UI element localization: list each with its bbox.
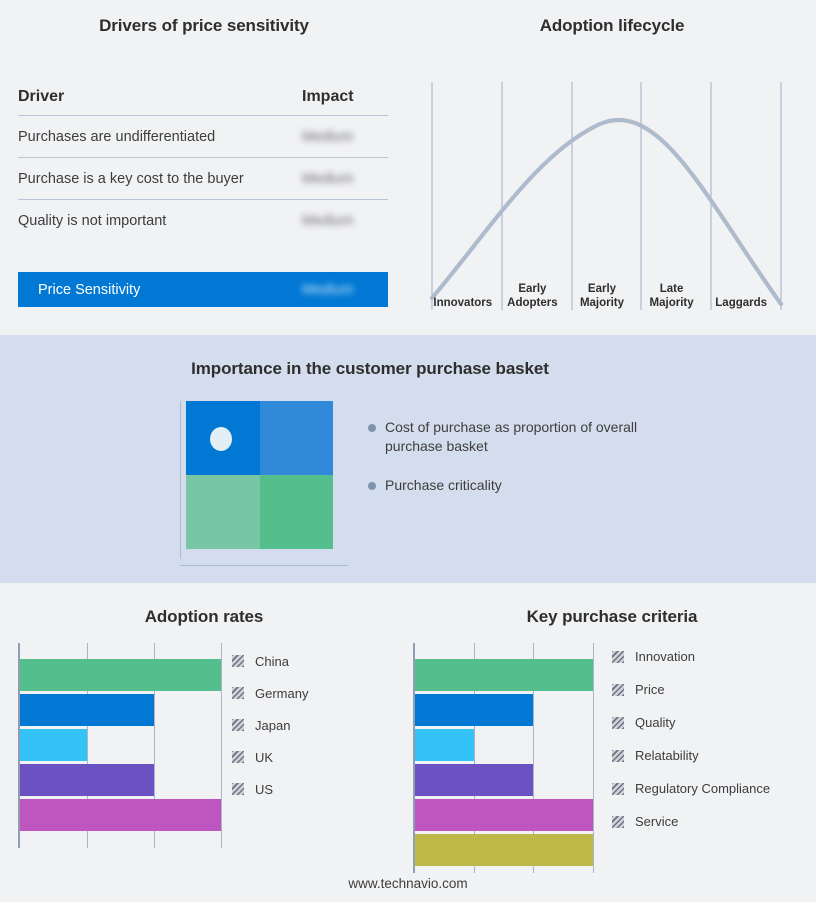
legend-item-service: Service: [612, 805, 770, 838]
legend-item-purchase-criticality: Purchase criticality: [368, 476, 698, 495]
lifecycle-chart: [428, 82, 804, 310]
legend-item-us: US: [232, 773, 308, 805]
bullet-dot-icon: [368, 482, 376, 490]
key-purchase-criteria-legend: Innovation Price Quality Relatability Re…: [612, 640, 770, 838]
drivers-table: Driver Impact Purchases are undifferenti…: [18, 88, 388, 241]
lifecycle-stage-early-adopters: Early Adopters: [498, 280, 568, 312]
adoption-rates-panel: Adoption rates China Germany: [0, 583, 408, 902]
hatch-swatch-icon: [612, 717, 624, 729]
footer-url: www.technavio.com: [0, 876, 816, 891]
legend-label: UK: [255, 750, 273, 765]
adoption-bell-curve: [432, 120, 781, 304]
drivers-panel: Drivers of price sensitivity Driver Impa…: [0, 0, 408, 335]
stage-line-1: Early: [518, 283, 546, 297]
legend-item-quality: Quality: [612, 706, 770, 739]
lifecycle-stage-labels: Innovators Early Adopters Early Majority…: [428, 280, 804, 312]
legend-label: Purchase criticality: [385, 476, 502, 495]
price-sensitivity-summary-row: Price Sensitivity Medium: [18, 272, 388, 307]
stage-line-1: Late: [660, 283, 684, 297]
lifecycle-stage-laggards: Laggards: [706, 280, 776, 312]
summary-impact-redacted: Medium: [302, 282, 388, 298]
bar-japan: [20, 729, 87, 761]
legend-label: Relatability: [635, 748, 699, 763]
column-header-impact: Impact: [302, 88, 388, 106]
hatch-swatch-icon: [612, 783, 624, 795]
key-purchase-criteria-title: Key purchase criteria: [408, 607, 816, 627]
hatch-swatch-icon: [612, 816, 624, 828]
hatch-swatch-icon: [232, 719, 244, 731]
legend-item-germany: Germany: [232, 677, 308, 709]
bar-germany: [20, 694, 154, 726]
bar-uk: [20, 764, 154, 796]
driver-label: Purchase is a key cost to the buyer: [18, 171, 302, 187]
stage-line-2: Majority: [580, 297, 624, 311]
matrix-quadrants: [186, 401, 333, 549]
legend-item-relatability: Relatability: [612, 739, 770, 772]
gridline: [593, 643, 594, 873]
table-row: Purchase is a key cost to the buyer Medi…: [18, 158, 388, 200]
bar-regulatory-compliance: [415, 799, 593, 831]
bar-price: [415, 694, 533, 726]
hatch-swatch-icon: [612, 684, 624, 696]
bar-quality: [415, 729, 474, 761]
stage-line-1: Early: [588, 283, 616, 297]
legend-label: China: [255, 654, 289, 669]
legend-label: US: [255, 782, 273, 797]
gridline: [221, 643, 222, 848]
driver-label: Purchases are undifferentiated: [18, 129, 302, 145]
lifecycle-dividers: [432, 82, 781, 310]
hatch-swatch-icon: [612, 651, 624, 663]
lifecycle-stage-innovators: Innovators: [428, 280, 498, 312]
importance-legend: Cost of purchase as proportion of overal…: [368, 418, 698, 515]
legend-label: Innovation: [635, 649, 695, 664]
legend-label: Japan: [255, 718, 290, 733]
hatch-swatch-icon: [232, 751, 244, 763]
legend-label: Quality: [635, 715, 675, 730]
column-header-driver: Driver: [18, 88, 302, 106]
stage-line-2: Adopters: [507, 297, 557, 311]
legend-label: Service: [635, 814, 678, 829]
impact-value-redacted: Medium: [302, 213, 388, 229]
lifecycle-stage-early-majority: Early Majority: [567, 280, 637, 312]
bar-china: [20, 659, 221, 691]
bar-innovation: [415, 659, 593, 691]
stage-line-2: Laggards: [715, 297, 767, 311]
importance-matrix: [180, 401, 348, 566]
bar-us: [20, 799, 221, 831]
stage-line-2: Innovators: [433, 297, 492, 311]
stage-line-2: Majority: [650, 297, 694, 311]
matrix-x-axis: [180, 565, 348, 566]
legend-item-price: Price: [612, 673, 770, 706]
legend-label: Regulatory Compliance: [635, 781, 770, 796]
legend-label: Germany: [255, 686, 308, 701]
driver-label: Quality is not important: [18, 213, 302, 229]
matrix-y-axis: [180, 401, 181, 559]
adoption-rates-chart: [18, 643, 223, 848]
key-purchase-criteria-chart: [413, 643, 603, 873]
legend-item-japan: Japan: [232, 709, 308, 741]
table-row: Quality is not important Medium: [18, 200, 388, 241]
matrix-cell-bottom-left: [186, 475, 260, 549]
lifecycle-stage-late-majority: Late Majority: [637, 280, 707, 312]
legend-item-cost-of-purchase: Cost of purchase as proportion of overal…: [368, 418, 698, 456]
legend-item-innovation: Innovation: [612, 640, 770, 673]
adoption-rates-title: Adoption rates: [0, 607, 408, 627]
bar-service: [415, 834, 593, 866]
adoption-rates-legend: China Germany Japan UK US: [232, 645, 308, 805]
importance-title: Importance in the customer purchase bask…: [0, 359, 740, 379]
table-row: Purchases are undifferentiated Medium: [18, 116, 388, 158]
matrix-position-marker: [210, 427, 232, 451]
legend-label: Price: [635, 682, 665, 697]
lifecycle-curve-svg: [428, 82, 804, 310]
matrix-cell-top-left: [186, 401, 260, 475]
bar-relatability: [415, 764, 533, 796]
matrix-cell-bottom-right: [260, 475, 334, 549]
infographic-page: Drivers of price sensitivity Driver Impa…: [0, 0, 816, 902]
legend-item-uk: UK: [232, 741, 308, 773]
legend-item-china: China: [232, 645, 308, 677]
plot-area: [18, 643, 223, 848]
lifecycle-title: Adoption lifecycle: [408, 16, 816, 36]
legend-item-regulatory-compliance: Regulatory Compliance: [612, 772, 770, 805]
legend-label: Cost of purchase as proportion of overal…: [385, 418, 647, 456]
hatch-swatch-icon: [232, 783, 244, 795]
hatch-swatch-icon: [612, 750, 624, 762]
drivers-title: Drivers of price sensitivity: [0, 16, 408, 36]
importance-panel: Importance in the customer purchase bask…: [0, 335, 816, 583]
summary-label: Price Sensitivity: [18, 282, 302, 298]
hatch-swatch-icon: [232, 655, 244, 667]
plot-area: [413, 643, 603, 873]
impact-value-redacted: Medium: [302, 171, 388, 187]
key-purchase-criteria-panel: Key purchase criteria Innovation: [408, 583, 816, 902]
impact-value-redacted: Medium: [302, 129, 388, 145]
hatch-swatch-icon: [232, 687, 244, 699]
lifecycle-panel: Adoption lifecycle Innovators: [408, 0, 816, 335]
bullet-dot-icon: [368, 424, 376, 432]
drivers-table-header: Driver Impact: [18, 88, 388, 116]
matrix-cell-top-right: [260, 401, 334, 475]
